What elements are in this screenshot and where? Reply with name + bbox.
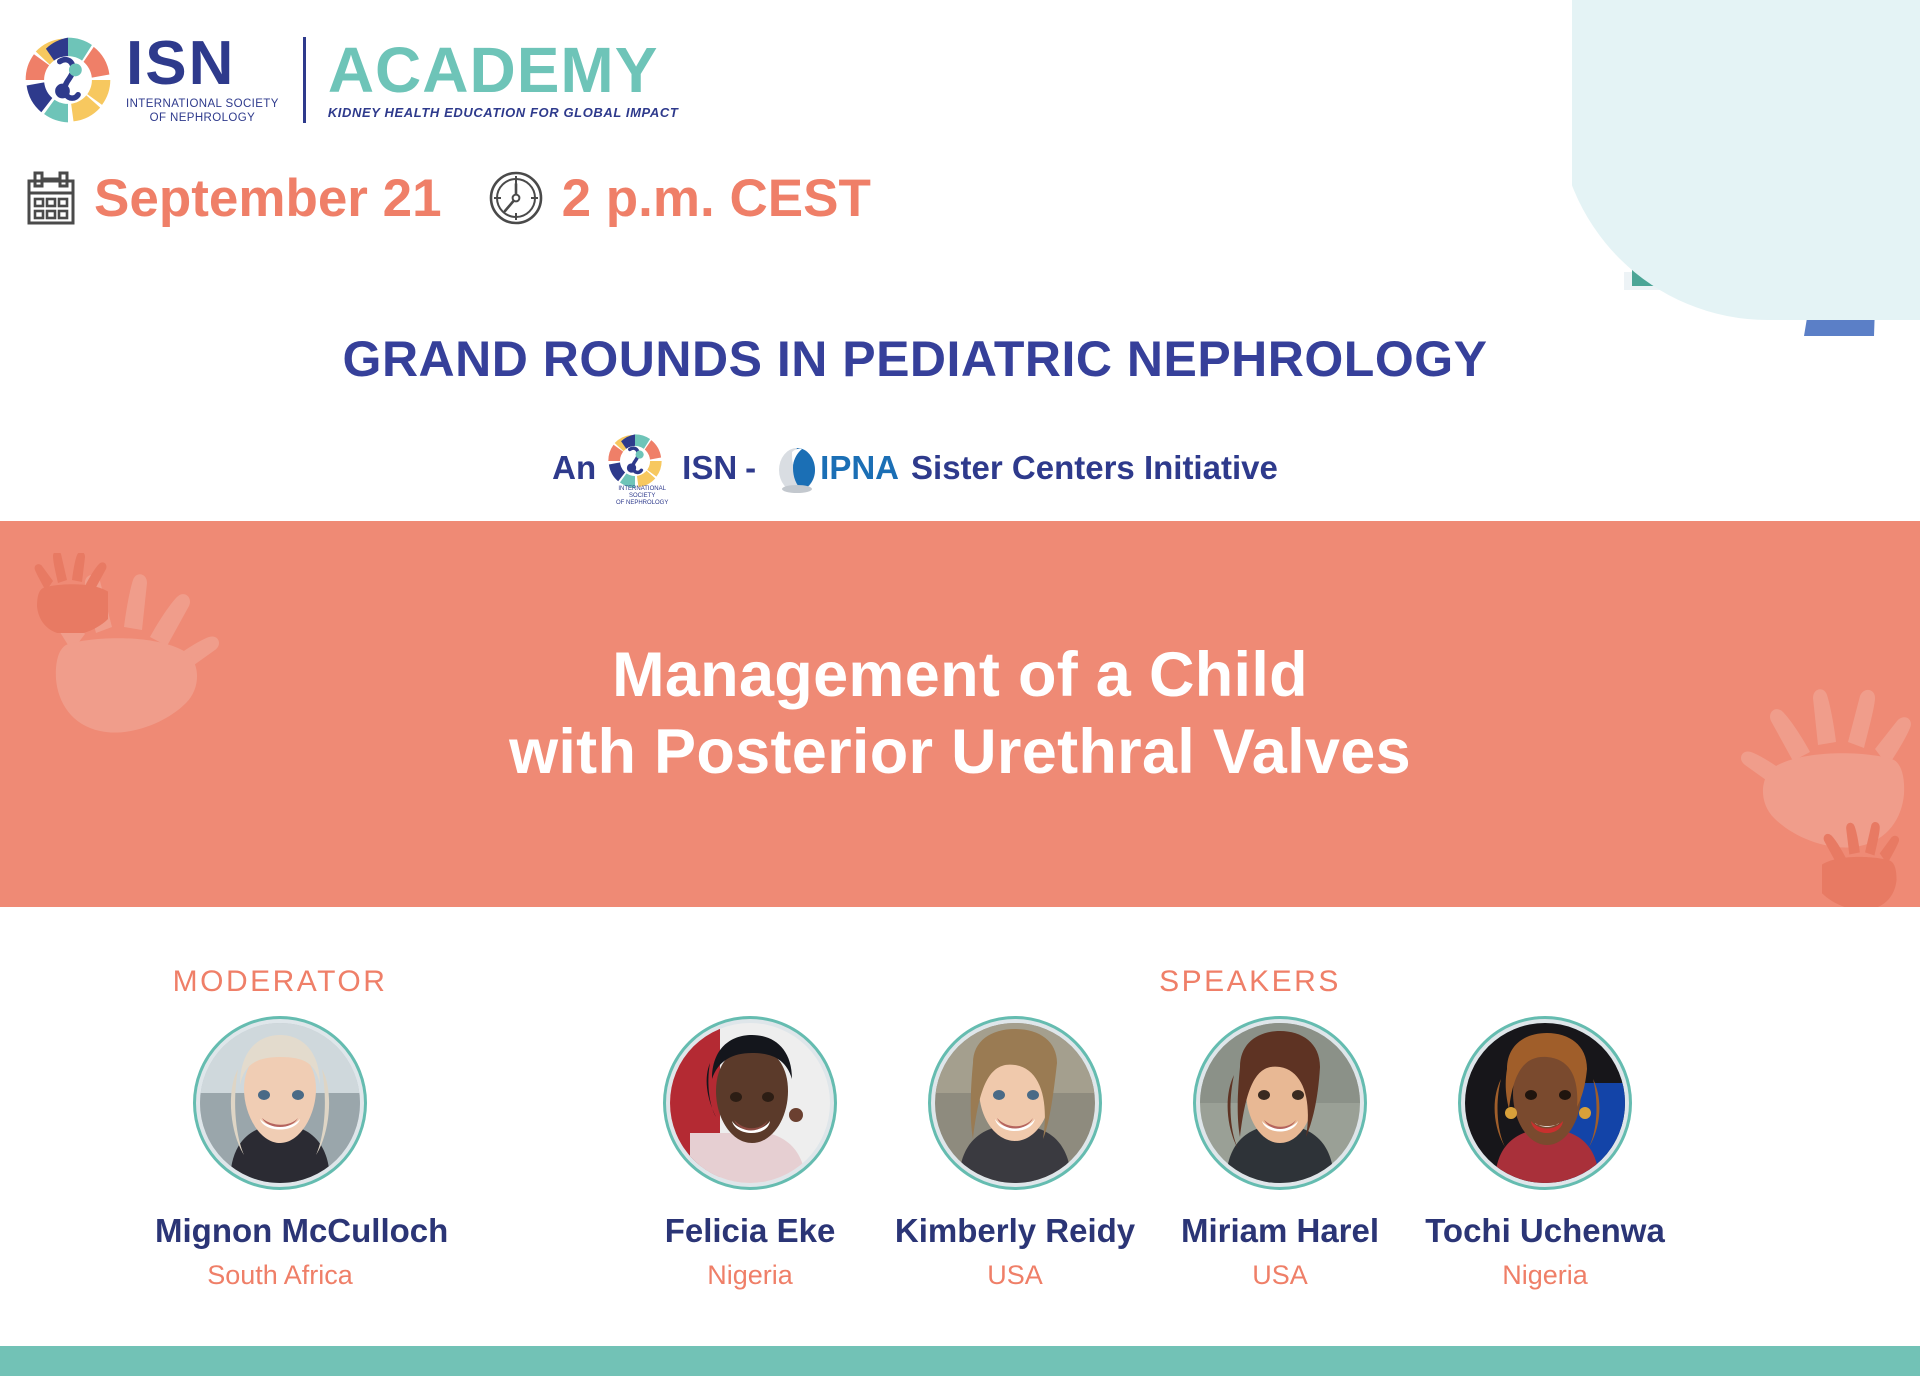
speaker-photo	[1200, 1023, 1360, 1183]
speaker-country: Nigeria	[1420, 1260, 1670, 1291]
event-date: September 21	[94, 168, 442, 229]
avatar	[663, 1016, 837, 1190]
academy-wordmark: ACADEMY KIDNEY HEALTH EDUCATION FOR GLOB…	[328, 40, 679, 121]
academy-tagline: KIDNEY HEALTH EDUCATION FOR GLOBAL IMPAC…	[328, 105, 679, 120]
isn-name: ISN	[126, 35, 279, 94]
speakers-label: SPEAKERS	[1125, 965, 1375, 999]
isn-mini-caption-line1: INTERNATIONAL SOCIETY	[618, 486, 666, 499]
speaker-name: Felicia Eke	[625, 1212, 875, 1250]
initiative-suffix: Sister Centers Initiative	[911, 449, 1278, 487]
isn-logo-icon	[22, 34, 114, 126]
calendar-icon	[26, 171, 76, 225]
ipna-logo-icon	[776, 443, 818, 493]
brand-logo-row: ISN INTERNATIONAL SOCIETY OF NEPHROLOGY …	[22, 26, 678, 134]
page-title: GRAND ROUNDS IN PEDIATRIC NEPHROLOGY	[0, 330, 1920, 388]
initiative-ipna-label: IPNA	[820, 449, 899, 487]
speaker-name: Kimberly Reidy	[890, 1212, 1140, 1250]
isn-mini-logo-icon: INTERNATIONAL SOCIETY OF NEPHROLOGY	[606, 432, 678, 504]
avatar	[193, 1016, 367, 1190]
event-time: 2 p.m. CEST	[562, 168, 871, 229]
isn-tagline-line2: OF NEPHROLOGY	[150, 112, 256, 124]
poster-canvas: ISN INTERNATIONAL SOCIETY OF NEPHROLOGY …	[0, 0, 1920, 1376]
logo-divider	[303, 37, 306, 123]
avatar	[1458, 1016, 1632, 1190]
initiative-line: An INTERNATIONAL SOCIETY OF NEPHROLOGY	[0, 432, 1920, 504]
speaker-country: USA	[1155, 1260, 1405, 1291]
isn-tagline-line1: INTERNATIONAL SOCIETY	[126, 98, 279, 110]
moderator-card[interactable]: Mignon McCulloch South Africa	[155, 1016, 405, 1291]
speaker-card[interactable]: Felicia Eke Nigeria	[625, 1016, 875, 1291]
people-section: MODERATOR SPEAKERS	[0, 920, 1920, 1350]
speaker-card[interactable]: Miriam Harel USA	[1155, 1016, 1405, 1291]
event-datetime-row: September 21 2 p.m. CEST	[26, 160, 871, 236]
avatar	[928, 1016, 1102, 1190]
initiative-separator: -	[745, 449, 756, 487]
avatar	[1193, 1016, 1367, 1190]
initiative-prefix: An	[552, 449, 596, 487]
hand-decoration-right-small-icon	[1822, 821, 1906, 907]
isn-mini-caption-line2: OF NEPHROLOGY	[616, 500, 668, 506]
speaker-card[interactable]: Tochi Uchenwa Nigeria	[1420, 1016, 1670, 1291]
session-title-line2: with Posterior Urethral Valves	[0, 714, 1920, 791]
session-title: Management of a Child with Posterior Ure…	[0, 637, 1920, 791]
speaker-card[interactable]: Kimberly Reidy USA	[890, 1016, 1140, 1291]
clock-icon	[488, 170, 544, 226]
academy-name: ACADEMY	[328, 40, 679, 101]
initiative-isn-label: ISN	[682, 449, 737, 487]
speaker-photo	[670, 1023, 830, 1183]
bottom-accent-strip	[0, 1346, 1920, 1376]
moderator-country: South Africa	[155, 1260, 405, 1291]
session-title-banner: Management of a Child with Posterior Ure…	[0, 521, 1920, 907]
speaker-country: USA	[890, 1260, 1140, 1291]
isn-wordmark: ISN INTERNATIONAL SOCIETY OF NEPHROLOGY	[126, 35, 279, 126]
isn-tagline: INTERNATIONAL SOCIETY OF NEPHROLOGY	[126, 97, 279, 125]
isn-mini-caption: INTERNATIONAL SOCIETY OF NEPHROLOGY	[606, 486, 678, 507]
session-title-line1: Management of a Child	[0, 637, 1920, 714]
moderator-label: MODERATOR	[155, 965, 405, 999]
speaker-photo	[935, 1023, 1095, 1183]
speaker-name: Miriam Harel	[1155, 1212, 1405, 1250]
speaker-photo	[1465, 1023, 1625, 1183]
speaker-name: Tochi Uchenwa	[1420, 1212, 1670, 1250]
speaker-country: Nigeria	[625, 1260, 875, 1291]
moderator-name: Mignon McCulloch	[155, 1212, 405, 1250]
moderator-photo	[200, 1023, 360, 1183]
hand-decoration-left-small-icon	[28, 553, 108, 633]
clinic-illustration	[1572, 0, 1920, 336]
